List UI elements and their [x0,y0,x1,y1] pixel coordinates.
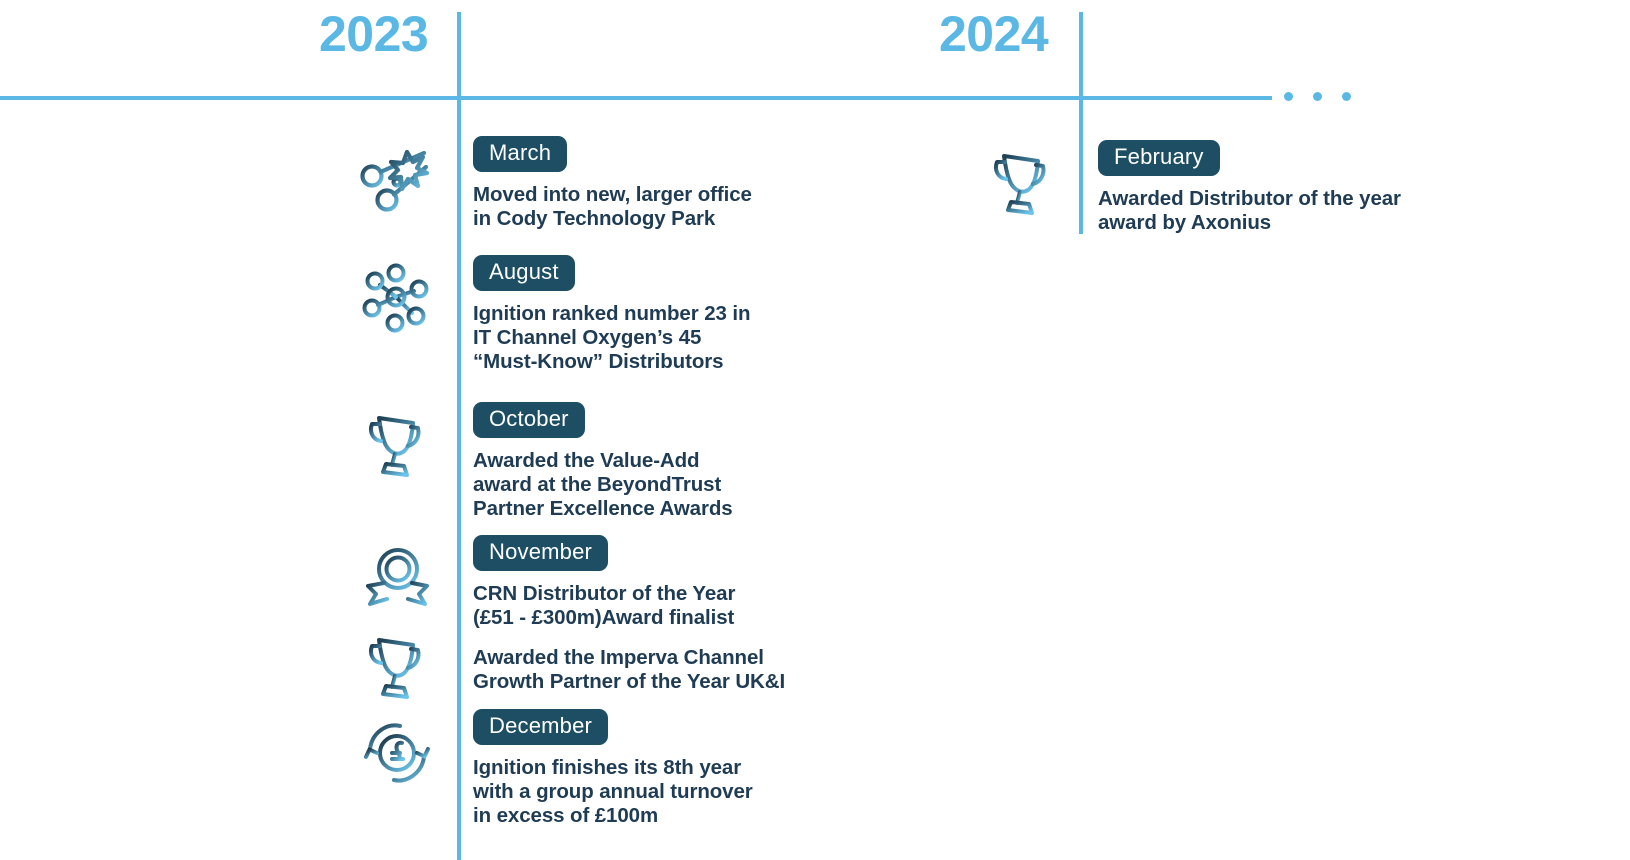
month-badge: December [473,709,608,745]
network-nodes-icon [348,251,444,343]
trophy-icon [348,398,444,490]
trophy-icon [348,620,444,712]
award-rosette-icon [348,531,444,623]
entry-body: October Awarded the Value-Add award at t… [444,398,733,521]
timeline-dot-3 [1342,92,1351,101]
entry-body: Awarded the Imperva Channel Growth Partn… [444,620,785,694]
timeline-continuation-dots [1284,92,1351,101]
month-badge: March [473,136,567,172]
timeline-entry-october: October Awarded the Value-Add award at t… [348,398,733,521]
entry-description: Moved into new, larger office in Cody Te… [473,183,752,231]
trophy-icon [973,136,1069,228]
year-label-2023: 2023 [319,9,428,59]
entry-body: November CRN Distributor of the Year (£5… [444,531,735,630]
timeline-entry-imperva: Awarded the Imperva Channel Growth Partn… [348,620,785,712]
timeline-entry-february: February Awarded Distributor of the year… [973,136,1401,235]
timeline-dot-2 [1313,92,1322,101]
year-label-2024: 2024 [939,9,1048,59]
entry-body: March Moved into new, larger office in C… [444,132,752,231]
month-badge: October [473,402,585,438]
scissors-ribbon-cutting-icon [348,132,444,224]
timeline-dot-1 [1284,92,1293,101]
entry-description: Awarded the Imperva Channel Growth Partn… [473,646,785,694]
timeline-entry-august: August Ignition ranked number 23 in IT C… [348,251,750,374]
entry-body: December Ignition finishes its 8th year … [444,705,753,828]
timeline-entry-december: December Ignition finishes its 8th year … [348,705,753,828]
entry-description: Awarded Distributor of the year award by… [1098,187,1401,235]
month-badge: November [473,535,608,571]
entry-body: August Ignition ranked number 23 in IT C… [444,251,750,374]
entry-description: Ignition ranked number 23 in IT Channel … [473,302,750,374]
pound-refresh-icon [348,705,444,797]
entry-body: February Awarded Distributor of the year… [1069,136,1401,235]
month-badge: August [473,255,575,291]
timeline-entry-march: March Moved into new, larger office in C… [348,132,752,231]
entry-description: Ignition finishes its 8th year with a gr… [473,756,753,828]
entry-description: Awarded the Value-Add award at the Beyon… [473,449,733,521]
month-badge: February [1098,140,1220,176]
timeline-entry-november: November CRN Distributor of the Year (£5… [348,531,735,630]
